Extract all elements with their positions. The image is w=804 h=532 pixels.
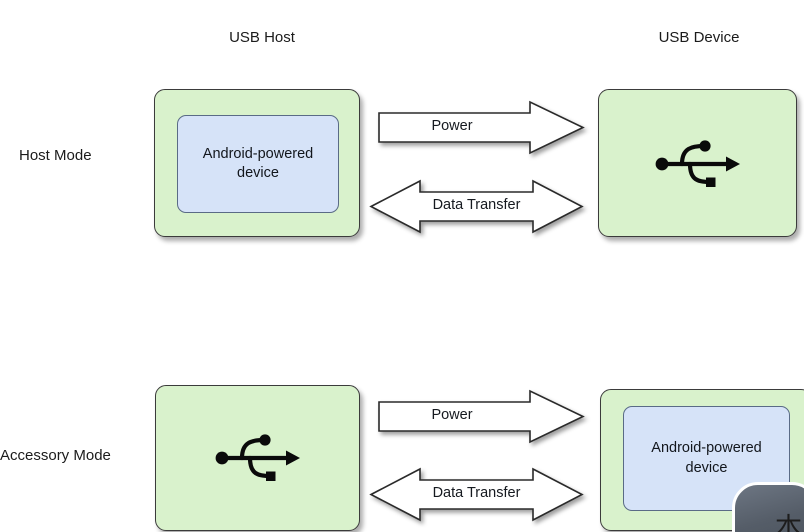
column-header-usb-host: USB Host — [182, 29, 342, 46]
host-mode-power-arrow: Power — [378, 101, 584, 154]
accessory-mode-android-device-label: Android-powereddevice — [651, 439, 761, 477]
host-mode-android-device-box: Android-powereddevice — [177, 115, 339, 213]
host-mode-android-device-label: Android-powereddevice — [203, 145, 313, 183]
host-mode-data-transfer-arrow: Data Transfer — [370, 180, 583, 233]
row-label-accessory-mode: Accessory Mode — [0, 447, 111, 464]
usb-trident-icon — [212, 430, 304, 486]
host-mode-right-node — [598, 89, 797, 237]
accessory-mode-left-node — [155, 385, 360, 531]
row-label-host-mode: Host Mode — [19, 147, 92, 164]
column-header-usb-device: USB Device — [614, 29, 784, 46]
accessory-mode-data-transfer-arrow: Data Transfer — [370, 468, 583, 521]
corner-overlay-glyph: 本 — [775, 515, 802, 532]
host-mode-left-node: Android-powereddevice — [154, 89, 360, 237]
diagram-canvas: USB Host USB Device Host Mode Android-po… — [0, 0, 804, 532]
accessory-mode-power-arrow: Power — [378, 390, 584, 443]
usb-trident-icon — [652, 136, 744, 192]
